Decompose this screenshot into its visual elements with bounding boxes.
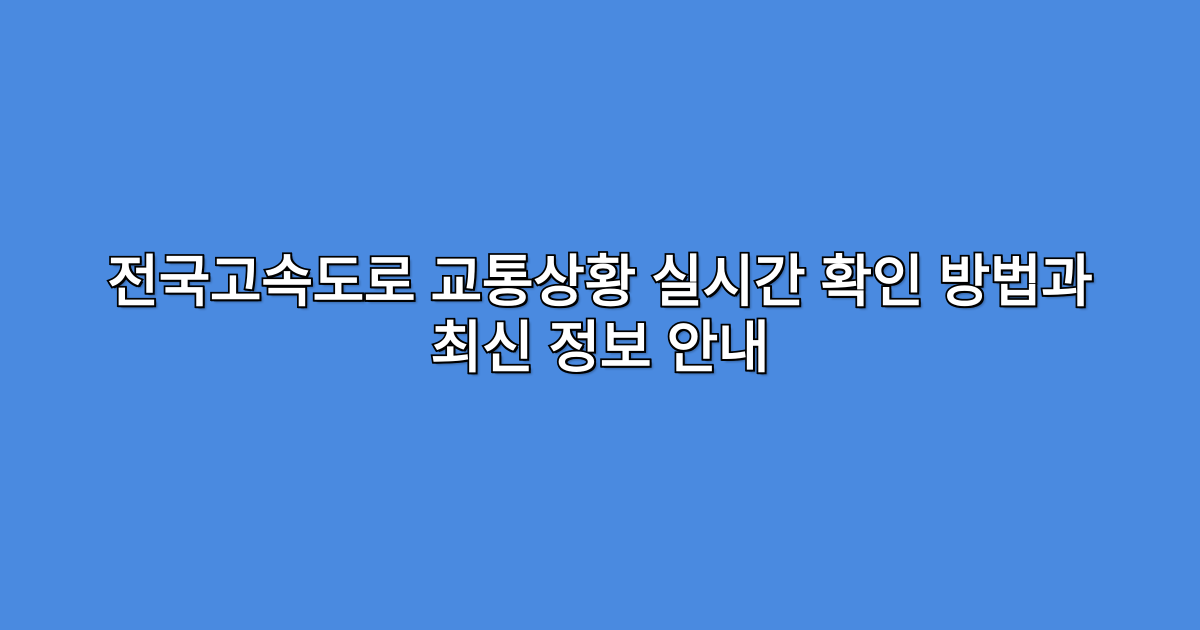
og-image-card: 전국고속도로 교통상황 실시간 확인 방법과 최신 정보 안내 bbox=[0, 0, 1200, 630]
page-title: 전국고속도로 교통상황 실시간 확인 방법과 최신 정보 안내 bbox=[86, 249, 1114, 381]
title-block: 전국고속도로 교통상황 실시간 확인 방법과 최신 정보 안내 bbox=[0, 249, 1200, 381]
